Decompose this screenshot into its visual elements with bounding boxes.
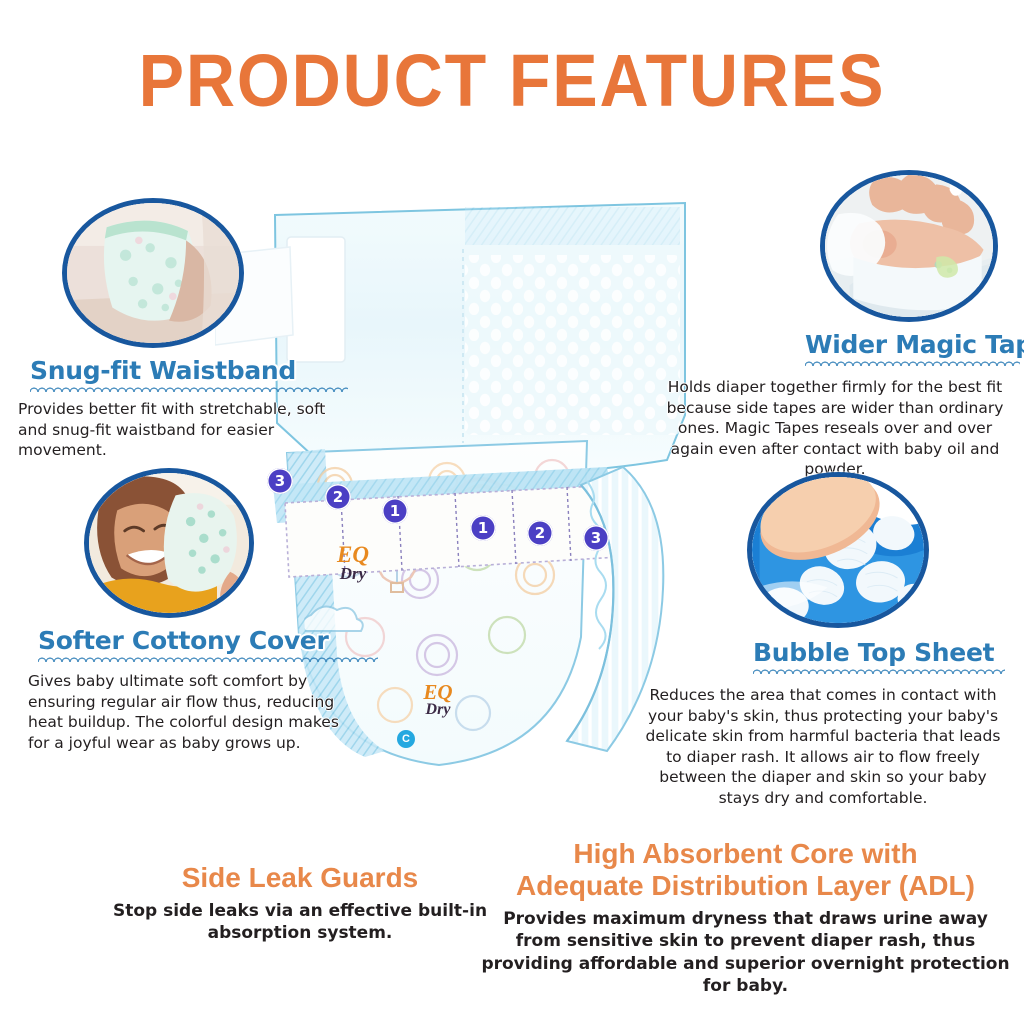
size-number-3-right: 3: [583, 525, 609, 551]
bottom-heading-high-absorbent-core-line2: Adequate Distribution Layer (ADL): [478, 870, 1013, 902]
heading-underline-wave: [30, 384, 348, 392]
snug-fit-waistband-photo: [62, 198, 244, 348]
bottom-heading-side-leak-guards: Side Leak Guards: [100, 862, 500, 894]
feature-heading-snug-fit-waistband: Snug-fit Waistband: [30, 356, 348, 385]
feature-heading-softer-cottony-cover: Softer Cottony Cover: [38, 626, 378, 655]
feature-snug-fit-waistband: Snug-fit Waistband Provides better fit w…: [18, 198, 348, 461]
feature-heading-bubble-top-sheet: Bubble Top Sheet: [753, 638, 1005, 667]
softer-cottony-cover-photo: [84, 468, 254, 618]
wetness-indicator-icon: C: [397, 730, 415, 748]
bubble-top-sheet-photo: [747, 472, 929, 628]
bottom-body-high-absorbent-core: Provides maximum dryness that draws urin…: [478, 908, 1013, 996]
bottom-heading-high-absorbent-core-line1: High Absorbent Core with: [478, 838, 1013, 870]
size-number-1-left: 1: [382, 498, 408, 524]
absorbent-core-texture: [465, 255, 680, 435]
heading-underline-wave: [805, 358, 1020, 366]
feature-wider-magic-tape: Wider Magic Tape Holds diaper together f…: [655, 170, 1020, 480]
page-title: PRODUCT FEATURES: [41, 38, 983, 123]
feature-high-absorbent-core: High Absorbent Core with Adequate Distri…: [478, 838, 1013, 997]
bottom-body-side-leak-guards: Stop side leaks via an effective built-i…: [100, 900, 500, 944]
feature-bubble-top-sheet: Bubble Top Sheet Reduces the area that c…: [645, 472, 1005, 809]
feature-body-snug-fit-waistband: Provides better fit with stretchable, so…: [18, 399, 334, 461]
size-number-2-right: 2: [527, 520, 553, 546]
size-number-1-right: 1: [470, 515, 496, 541]
feature-side-leak-guards: Side Leak Guards Stop side leaks via an …: [100, 862, 500, 944]
feature-softer-cottony-cover: Softer Cottony Cover Gives baby ultimate…: [28, 468, 378, 753]
heading-underline-wave: [753, 666, 1005, 674]
diaper-waist-stripes: [465, 207, 680, 245]
feature-heading-wider-magic-tape: Wider Magic Tape: [805, 330, 1020, 359]
feature-body-softer-cottony-cover: Gives baby ultimate soft comfort by ensu…: [28, 671, 358, 753]
feature-body-bubble-top-sheet: Reduces the area that comes in contact w…: [645, 685, 1001, 809]
heading-underline-wave: [38, 654, 378, 662]
wider-magic-tape-photo: [820, 170, 998, 322]
feature-body-wider-magic-tape: Holds diaper together firmly for the bes…: [655, 377, 1015, 480]
